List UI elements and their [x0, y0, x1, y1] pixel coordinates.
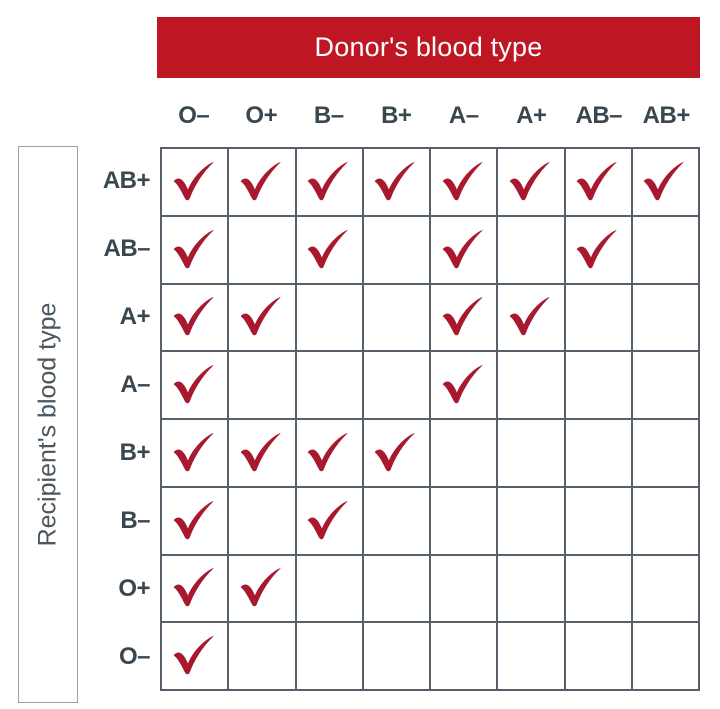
- donor-column-header: A+: [498, 96, 566, 136]
- matrix-cell-empty: [566, 623, 633, 691]
- recipient-row-header: O–: [84, 623, 152, 691]
- matrix-cell-empty: [297, 556, 364, 624]
- donor-column-header: A–: [430, 96, 498, 136]
- matrix-cell-empty: [566, 488, 633, 556]
- matrix-cell-empty: [431, 556, 498, 624]
- donor-column-header: AB–: [565, 96, 633, 136]
- check-icon: [305, 432, 349, 472]
- matrix-cell-empty: [566, 556, 633, 624]
- matrix-cell-compatible: [162, 285, 229, 353]
- donor-column-header: O–: [160, 96, 228, 136]
- matrix-cell-empty: [566, 420, 633, 488]
- matrix-cell-empty: [431, 623, 498, 691]
- matrix-cell-empty: [364, 285, 431, 353]
- check-icon: [305, 500, 349, 540]
- matrix-cell-empty: [498, 623, 565, 691]
- check-icon: [171, 229, 215, 269]
- donor-header-bar: Donor's blood type: [157, 17, 700, 78]
- check-icon: [238, 296, 282, 336]
- check-icon: [171, 635, 215, 675]
- matrix-cell-compatible: [162, 488, 229, 556]
- check-icon: [372, 161, 416, 201]
- matrix-cell-compatible: [162, 149, 229, 217]
- matrix-cell-empty: [633, 352, 700, 420]
- matrix-cell-compatible: [364, 420, 431, 488]
- donor-column-header: B–: [295, 96, 363, 136]
- matrix-cell-empty: [498, 420, 565, 488]
- check-icon: [440, 229, 484, 269]
- donor-column-header: B+: [363, 96, 431, 136]
- matrix-cell-compatible: [229, 285, 296, 353]
- matrix-cell-compatible: [498, 149, 565, 217]
- donor-column-header: O+: [228, 96, 296, 136]
- matrix-cell-compatible: [229, 556, 296, 624]
- matrix-cell-compatible: [162, 217, 229, 285]
- check-icon: [305, 229, 349, 269]
- check-icon: [305, 161, 349, 201]
- recipient-axis-box: Recipient's blood type: [18, 146, 78, 703]
- matrix-cell-compatible: [566, 149, 633, 217]
- matrix-cell-empty: [498, 352, 565, 420]
- check-icon: [440, 364, 484, 404]
- check-icon: [238, 432, 282, 472]
- matrix-cell-empty: [297, 623, 364, 691]
- matrix-cell-empty: [431, 420, 498, 488]
- matrix-cell-empty: [566, 352, 633, 420]
- matrix-cell-empty: [364, 352, 431, 420]
- matrix-cell-empty: [229, 623, 296, 691]
- check-icon: [641, 161, 685, 201]
- matrix-cell-empty: [229, 352, 296, 420]
- recipient-row-header: AB+: [84, 147, 152, 215]
- matrix-cell-compatible: [162, 556, 229, 624]
- matrix-cell-empty: [498, 556, 565, 624]
- check-icon: [507, 296, 551, 336]
- check-icon: [171, 364, 215, 404]
- matrix-cell-compatible: [431, 217, 498, 285]
- matrix-cell-compatible: [297, 420, 364, 488]
- check-icon: [507, 161, 551, 201]
- matrix-cell-compatible: [566, 217, 633, 285]
- matrix-cell-empty: [297, 285, 364, 353]
- matrix-cell-empty: [566, 285, 633, 353]
- check-icon: [574, 229, 618, 269]
- matrix-cell-empty: [364, 623, 431, 691]
- recipient-row-header: A+: [84, 283, 152, 351]
- donor-column-header: AB+: [633, 96, 701, 136]
- recipient-row-header: B–: [84, 487, 152, 555]
- recipient-axis-title: Recipient's blood type: [34, 303, 63, 547]
- matrix-cell-empty: [229, 217, 296, 285]
- matrix-cell-empty: [297, 352, 364, 420]
- check-icon: [372, 432, 416, 472]
- matrix-cell-compatible: [297, 217, 364, 285]
- recipient-row-headers: AB+AB–A+A–B+B–O+O–: [84, 147, 152, 691]
- check-icon: [171, 432, 215, 472]
- matrix-cell-empty: [633, 285, 700, 353]
- matrix-cell-compatible: [297, 488, 364, 556]
- matrix-cell-empty: [633, 217, 700, 285]
- matrix-cell-empty: [498, 488, 565, 556]
- matrix-cell-compatible: [162, 352, 229, 420]
- matrix-cell-compatible: [229, 420, 296, 488]
- matrix-cell-empty: [364, 556, 431, 624]
- matrix-cell-empty: [364, 488, 431, 556]
- recipient-row-header: O+: [84, 555, 152, 623]
- check-icon: [440, 296, 484, 336]
- matrix-cell-empty: [229, 488, 296, 556]
- matrix-cell-empty: [431, 488, 498, 556]
- check-icon: [238, 161, 282, 201]
- matrix-cell-compatible: [162, 623, 229, 691]
- matrix-cell-empty: [498, 217, 565, 285]
- matrix-cell-empty: [633, 488, 700, 556]
- matrix-cell-compatible: [297, 149, 364, 217]
- matrix-cell-empty: [633, 556, 700, 624]
- matrix-cell-compatible: [633, 149, 700, 217]
- matrix-cell-empty: [364, 217, 431, 285]
- matrix-cell-compatible: [431, 149, 498, 217]
- donor-header-title: Donor's blood type: [315, 32, 543, 63]
- matrix-cell-compatible: [431, 285, 498, 353]
- check-icon: [574, 161, 618, 201]
- matrix-cell-empty: [633, 420, 700, 488]
- matrix-cell-empty: [633, 623, 700, 691]
- recipient-row-header: B+: [84, 419, 152, 487]
- recipient-row-header: AB–: [84, 215, 152, 283]
- matrix-cell-compatible: [229, 149, 296, 217]
- check-icon: [440, 161, 484, 201]
- matrix-cell-compatible: [498, 285, 565, 353]
- matrix-cell-compatible: [364, 149, 431, 217]
- compatibility-matrix: [160, 147, 700, 691]
- recipient-row-header: A–: [84, 351, 152, 419]
- matrix-cell-compatible: [431, 352, 498, 420]
- check-icon: [171, 161, 215, 201]
- check-icon: [171, 567, 215, 607]
- donor-column-headers: O–O+B–B+A–A+AB–AB+: [160, 96, 700, 136]
- check-icon: [171, 500, 215, 540]
- matrix-cell-compatible: [162, 420, 229, 488]
- check-icon: [238, 567, 282, 607]
- check-icon: [171, 296, 215, 336]
